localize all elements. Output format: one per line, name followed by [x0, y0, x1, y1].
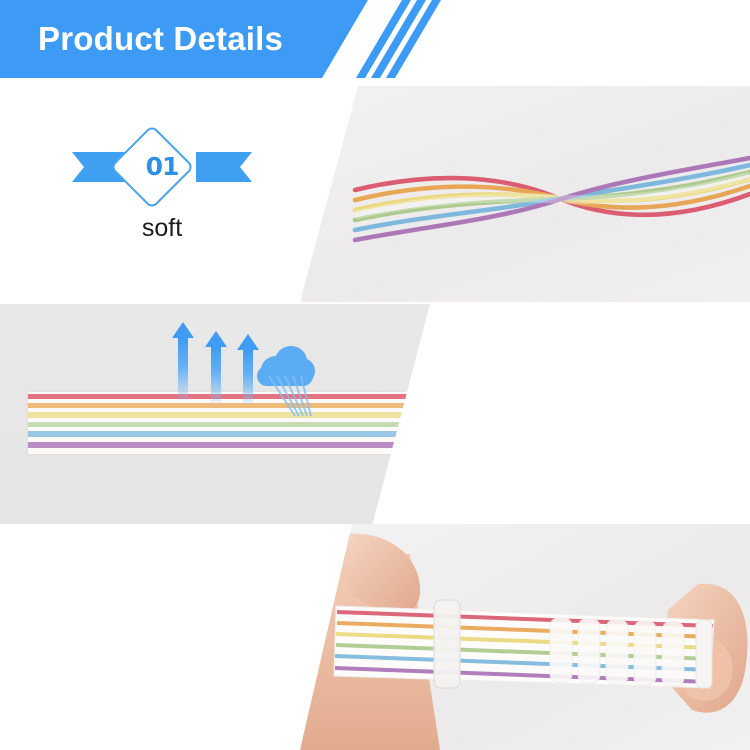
- twisted-strap-illustration: [300, 86, 750, 302]
- photo-velcro-strap: [300, 524, 750, 750]
- strap-stripe-orange: [28, 403, 408, 408]
- wrist-strap-illustration: [300, 524, 750, 750]
- photo-breathable-strap: [0, 304, 430, 526]
- badge-01: 01: [72, 128, 252, 206]
- strap-stripe-purple: [28, 442, 408, 448]
- airflow-arrow-2: [205, 331, 227, 403]
- product-details-infographic: Product Details: [0, 0, 750, 750]
- page-header: Product Details: [0, 0, 750, 78]
- strap-stripe-yellow: [28, 412, 408, 418]
- panel-velcro: 03 adjustable velcro: [0, 524, 750, 750]
- cloud-puff-icon: [255, 344, 317, 388]
- photo-soft-strap: [300, 86, 750, 302]
- strap-stripe-green: [28, 422, 408, 427]
- panel-soft: 01 soft: [0, 78, 750, 302]
- panel-breathable: 02 breathable: [0, 304, 750, 526]
- strap-stripe-blue: [28, 431, 408, 437]
- badge-number: 01: [72, 152, 252, 182]
- airflow-arrow-1: [172, 322, 194, 400]
- feature-label-soft: soft: [72, 214, 252, 243]
- badge-group-soft: 01 soft: [72, 128, 252, 243]
- page-title: Product Details: [38, 20, 283, 58]
- cloud-streaks-icon: [259, 376, 321, 420]
